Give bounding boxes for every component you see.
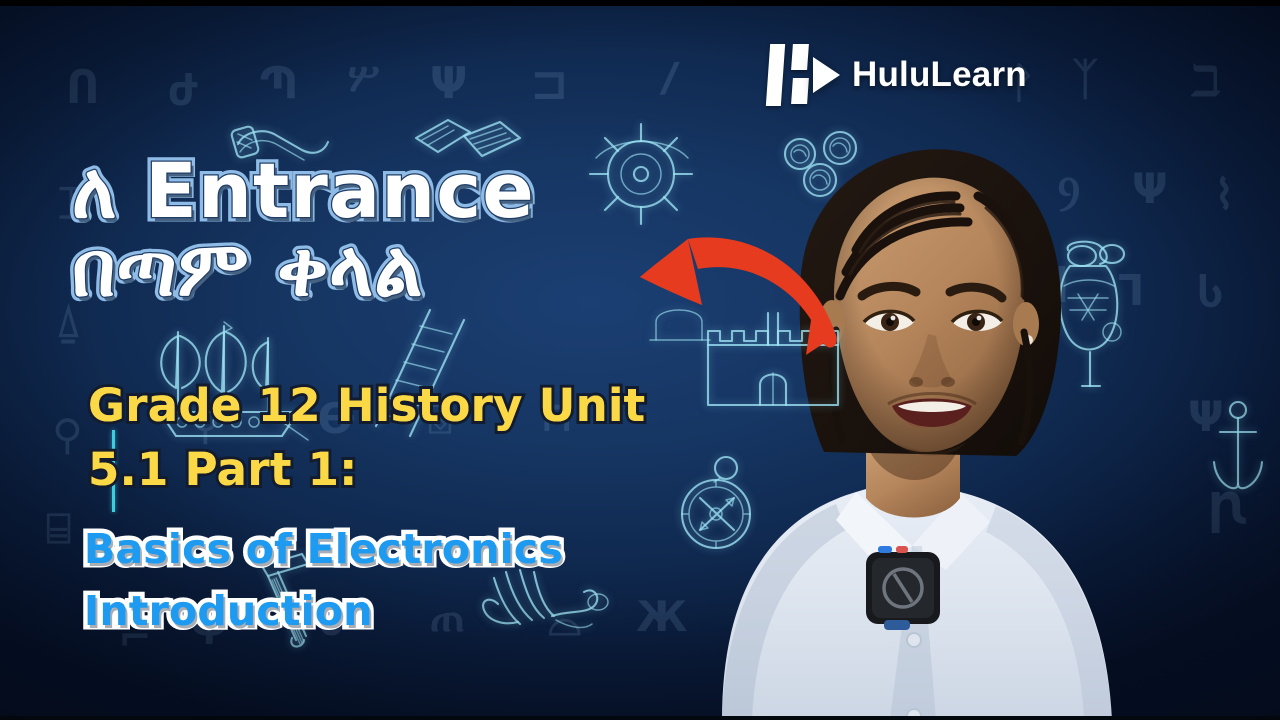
topic-line-2: Introduction xyxy=(84,581,563,643)
topic-line-1: Basics of Electronics xyxy=(84,519,563,581)
red-arrow-icon xyxy=(630,225,860,370)
headline-line-1: ለ Entrance xyxy=(72,152,535,230)
headline-text: ለ Entrance በጣም ቀላል xyxy=(72,152,535,309)
subtitle-text: Grade 12 History Unit 5.1 Part 1: xyxy=(88,374,645,502)
lapel-microphone-icon xyxy=(866,546,940,630)
hululearn-play-logo-icon xyxy=(766,44,838,106)
top-letterbox-bar xyxy=(0,0,1280,6)
video-thumbnail: Ո ժ Պ ሦ Ψ ⊐ Ⳇ ᚹ ᛉ ℶ ⌶ Ⳋ Ψ ⌇ ⍙ Ⴗ ᒣ Ⴑ ⚲ ⚲ … xyxy=(0,0,1280,720)
brand-name: HuluLearn xyxy=(852,55,1027,95)
topic-text: Basics of Electronics Introduction xyxy=(84,519,563,642)
subtitle-line-2: 5.1 Part 1: xyxy=(88,438,645,502)
bottom-letterbox-bar xyxy=(0,716,1280,720)
subtitle-line-1: Grade 12 History Unit xyxy=(88,374,645,438)
headline-line-2: በጣም ቀላል xyxy=(72,230,535,308)
brand-logo[interactable]: HuluLearn xyxy=(766,44,1027,106)
